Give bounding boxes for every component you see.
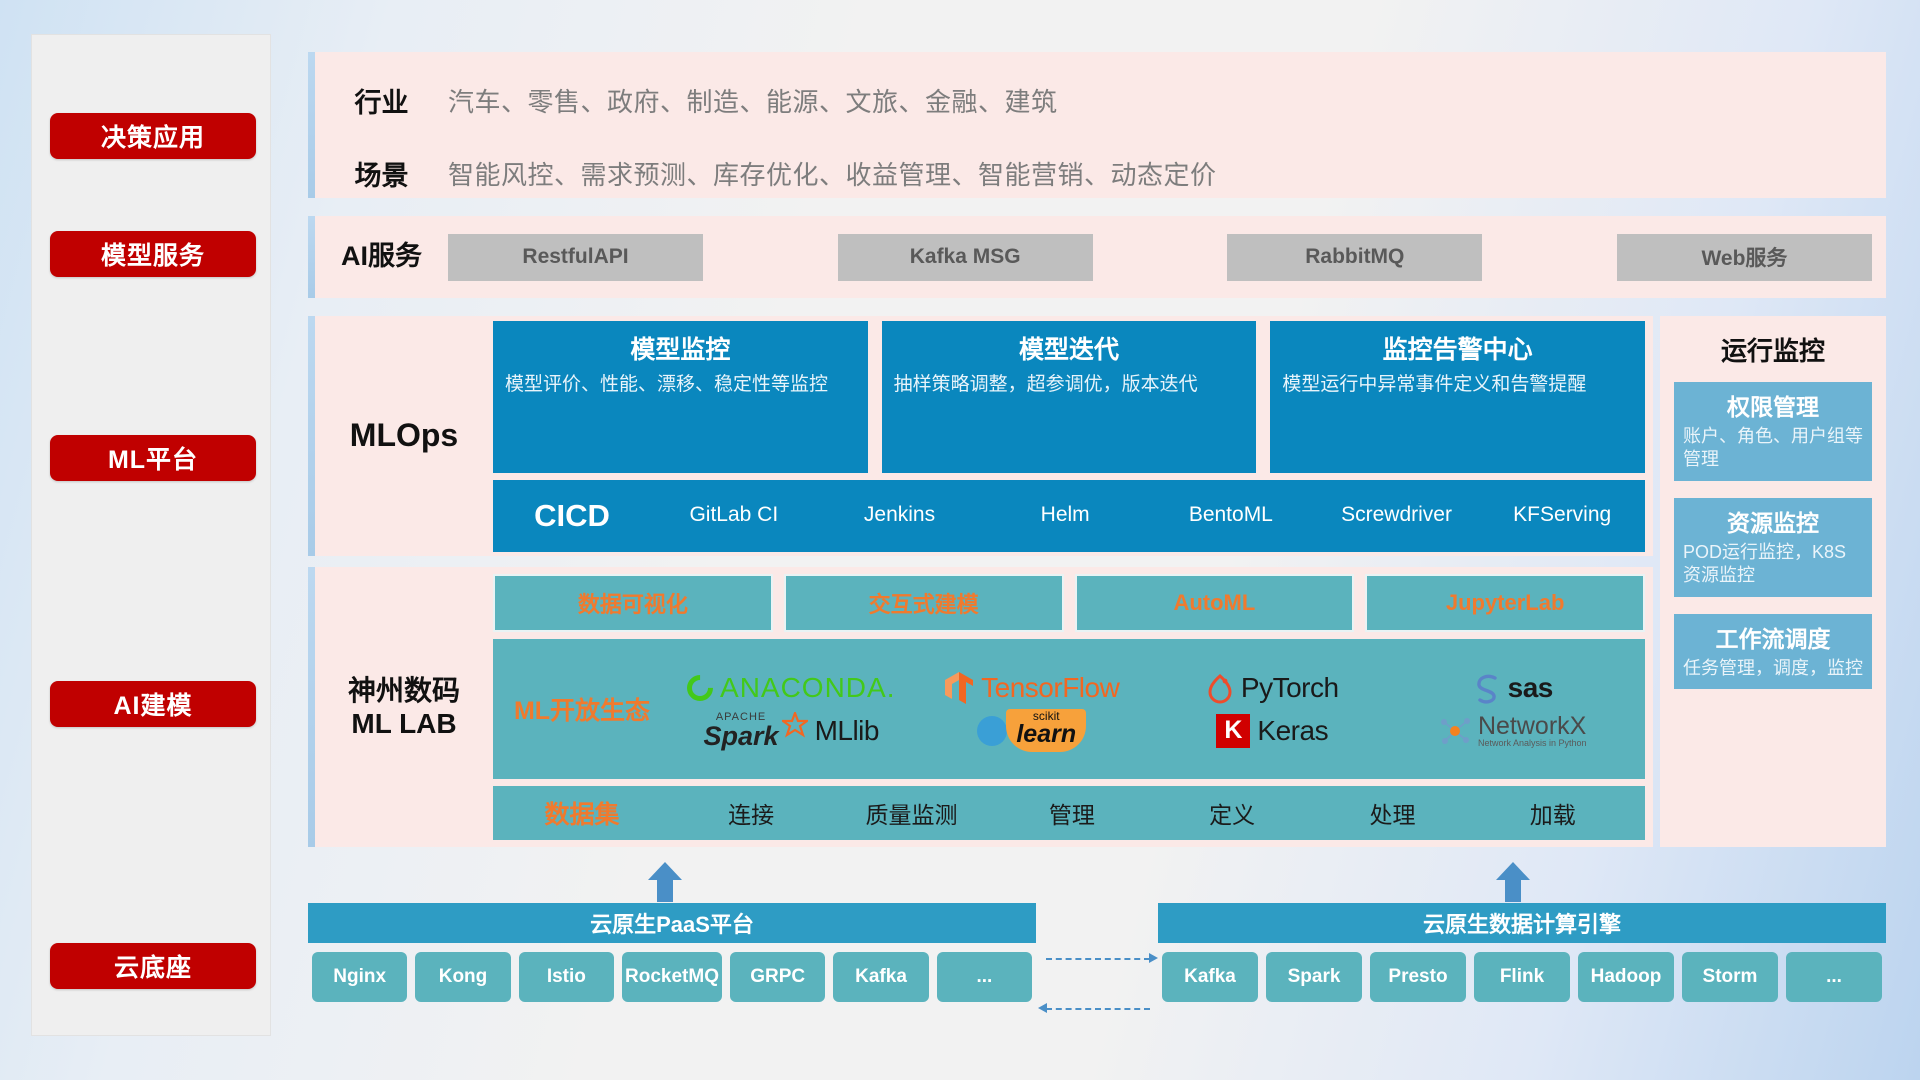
- logo-networkx: NetworkX Network Analysis in Python: [1439, 714, 1587, 748]
- runtime-monitoring-panel: 运行监控 权限管理 账户、角色、用户组等管理 资源监控 POD运行监控，K8S资…: [1660, 316, 1886, 847]
- logo-sas: sas: [1473, 672, 1553, 704]
- pytorch-icon: [1206, 672, 1234, 704]
- paas-chip-kafka[interactable]: Kafka: [833, 952, 928, 1002]
- scenario-label: 场景: [315, 154, 448, 193]
- card-title: 资源监控: [1683, 504, 1863, 538]
- industry-value: 汽车、零售、政府、制造、能源、文旅、金融、建筑: [448, 82, 1058, 119]
- cicd-bar: CICD GitLab CI Jenkins Helm BentoML Scre…: [493, 480, 1645, 552]
- logo-anaconda: ANACONDA.: [687, 672, 895, 704]
- scenario-row: 场景 智能风控、需求预测、库存优化、收益管理、智能营销、动态定价: [315, 137, 1886, 210]
- runtime-monitoring-title: 运行监控: [1660, 331, 1886, 368]
- layer-tag-cloud-foundation[interactable]: 云底座: [50, 943, 256, 989]
- networkx-icon: [1439, 715, 1471, 747]
- logo-spark-mllib: APACHE Spark MLlib: [704, 712, 879, 750]
- cicd-item-jenkins[interactable]: Jenkins: [817, 503, 983, 527]
- arrow-up-engine-icon: [1496, 862, 1530, 902]
- networkx-tagline: Network Analysis in Python: [1478, 739, 1587, 748]
- scikit-learn-blue-blob-icon: [977, 716, 1007, 746]
- card-title: 模型迭代: [894, 330, 1245, 366]
- networkx-wordmark: NetworkX: [1478, 714, 1587, 739]
- tensorflow-icon: [944, 671, 974, 705]
- card-desc: 模型评价、性能、漂移、稳定性等监控: [505, 372, 856, 397]
- ai-service-label: AI服务: [315, 241, 448, 273]
- engine-chip-flink[interactable]: Flink: [1474, 952, 1570, 1002]
- paas-chip-istio[interactable]: Istio: [519, 952, 614, 1002]
- cicd-item-screwdriver[interactable]: Screwdriver: [1314, 503, 1480, 527]
- monitor-card-permission[interactable]: 权限管理 账户、角色、用户组等管理: [1674, 382, 1872, 481]
- engine-chip-presto[interactable]: Presto: [1370, 952, 1466, 1002]
- anaconda-wordmark: ANACONDA.: [720, 672, 895, 704]
- cicd-item-helm[interactable]: Helm: [982, 503, 1148, 527]
- ml-lab-tool-automl[interactable]: AutoML: [1075, 574, 1355, 632]
- scenario-value: 智能风控、需求预测、库存优化、收益管理、智能营销、动态定价: [448, 155, 1217, 192]
- logo-tensorflow: TensorFlow: [944, 671, 1119, 705]
- engine-title: 云原生数据计算引擎: [1158, 903, 1886, 943]
- ml-lab-tool-list: 数据可视化 交互式建模 AutoML JupyterLab: [493, 574, 1645, 632]
- paas-chip-more[interactable]: ...: [937, 952, 1032, 1002]
- mlops-label: MLOps: [315, 417, 493, 455]
- mlops-card-model-iteration[interactable]: 模型迭代 抽样策略调整，超参调优，版本迭代: [882, 321, 1257, 473]
- ml-lab-label: 神州数码 ML LAB: [315, 674, 493, 740]
- ai-service-band: AI服务 RestfulAPI Kafka MSG RabbitMQ Web服务: [308, 216, 1886, 298]
- ml-lab-label-line2: ML LAB: [315, 707, 493, 740]
- logo-pytorch: PyTorch: [1206, 672, 1339, 704]
- mlops-card-list: 模型监控 模型评价、性能、漂移、稳定性等监控 模型迭代 抽样策略调整，超参调优，…: [493, 321, 1645, 473]
- industry-row: 行业 汽车、零售、政府、制造、能源、文旅、金融、建筑: [315, 64, 1886, 137]
- spark-wordmark: Spark: [704, 723, 779, 750]
- cicd-item-kfserving[interactable]: KFServing: [1479, 503, 1645, 527]
- paas-chip-grpc[interactable]: GRPC: [730, 952, 825, 1002]
- engine-chip-spark[interactable]: Spark: [1266, 952, 1362, 1002]
- spark-star-icon: [782, 712, 808, 738]
- pytorch-wordmark: PyTorch: [1241, 672, 1339, 704]
- layer-tag-ml-platform[interactable]: ML平台: [50, 435, 256, 481]
- layer-rail: 决策应用 模型服务 ML平台 AI建模 云底座: [31, 34, 271, 1036]
- ai-service-button-restfulapi[interactable]: RestfulAPI: [448, 234, 703, 281]
- ml-lab-tool-jupyterlab[interactable]: JupyterLab: [1365, 574, 1645, 632]
- dataset-row: 数据集 连接 质量监测 管理 定义 处理 加载: [493, 786, 1645, 840]
- engine-chip-hadoop[interactable]: Hadoop: [1578, 952, 1674, 1002]
- ml-ecosystem-label: ML开放生态: [493, 691, 671, 727]
- monitor-card-resource[interactable]: 资源监控 POD运行监控，K8S资源监控: [1674, 498, 1872, 597]
- layer-tag-decision-apps[interactable]: 决策应用: [50, 113, 256, 159]
- arrow-up-paas-icon: [648, 862, 682, 902]
- card-desc: 抽样策略调整，超参调优，版本迭代: [894, 372, 1245, 397]
- logo-keras: K Keras: [1216, 714, 1328, 748]
- card-desc: 模型运行中异常事件定义和告警提醒: [1282, 372, 1633, 397]
- card-title: 监控告警中心: [1282, 330, 1633, 366]
- logo-scikit-learn: scikit learn: [977, 709, 1086, 752]
- paas-title: 云原生PaaS平台: [308, 903, 1036, 943]
- dataset-item-quality-monitor[interactable]: 质量监测: [831, 796, 991, 830]
- ml-ecosystem-row: ML开放生态 ANACONDA. TensorFlow: [493, 639, 1645, 779]
- mlops-band: MLOps 模型监控 模型评价、性能、漂移、稳定性等监控 模型迭代 抽样策略调整…: [308, 316, 1653, 556]
- cicd-item-bentoml[interactable]: BentoML: [1148, 503, 1314, 527]
- decision-apps-band: 行业 汽车、零售、政府、制造、能源、文旅、金融、建筑 场景 智能风控、需求预测、…: [308, 52, 1886, 198]
- ai-service-button-web[interactable]: Web服务: [1617, 234, 1872, 281]
- sas-wordmark: sas: [1508, 672, 1553, 704]
- engine-chip-storm[interactable]: Storm: [1682, 952, 1778, 1002]
- dataset-item-manage[interactable]: 管理: [992, 796, 1152, 830]
- cicd-item-gitlab-ci[interactable]: GitLab CI: [651, 503, 817, 527]
- engine-chip-more[interactable]: ...: [1786, 952, 1882, 1002]
- layer-tag-model-service[interactable]: 模型服务: [50, 231, 256, 277]
- dataset-item-define[interactable]: 定义: [1152, 796, 1312, 830]
- cloud-native-data-engine-block: 云原生数据计算引擎 Kafka Spark Presto Flink Hadoo…: [1158, 903, 1886, 1006]
- dataset-item-load[interactable]: 加载: [1473, 796, 1633, 830]
- layer-tag-ai-modeling[interactable]: AI建模: [50, 681, 256, 727]
- paas-chip-rocketmq[interactable]: RocketMQ: [622, 952, 722, 1002]
- card-title: 工作流调度: [1683, 620, 1863, 654]
- mlops-card-alert-center[interactable]: 监控告警中心 模型运行中异常事件定义和告警提醒: [1270, 321, 1645, 473]
- card-desc: POD运行监控，K8S资源监控: [1683, 541, 1863, 588]
- card-title: 权限管理: [1683, 388, 1863, 422]
- scikit-learn-icon: scikit learn: [1006, 709, 1086, 752]
- ai-service-buttons: RestfulAPI Kafka MSG RabbitMQ Web服务: [448, 234, 1886, 281]
- card-title: 模型监控: [505, 330, 856, 366]
- keras-wordmark: Keras: [1257, 715, 1328, 747]
- paas-chip-nginx[interactable]: Nginx: [312, 952, 407, 1002]
- industry-label: 行业: [315, 81, 448, 120]
- ml-lab-label-line1: 神州数码: [315, 674, 493, 707]
- sas-icon: [1473, 672, 1501, 704]
- ai-service-button-rabbitmq[interactable]: RabbitMQ: [1227, 234, 1482, 281]
- mlops-card-model-monitoring[interactable]: 模型监控 模型评价、性能、漂移、稳定性等监控: [493, 321, 868, 473]
- anaconda-icon: [682, 669, 719, 706]
- monitor-card-workflow[interactable]: 工作流调度 任务管理，调度，监控: [1674, 614, 1872, 689]
- dataset-item-connect[interactable]: 连接: [671, 796, 831, 830]
- engine-chip-kafka[interactable]: Kafka: [1162, 952, 1258, 1002]
- ml-lab-tool-interactive-modeling[interactable]: 交互式建模: [784, 574, 1064, 632]
- keras-icon: K: [1216, 714, 1250, 748]
- ml-lab-tool-data-visualization[interactable]: 数据可视化: [493, 574, 773, 632]
- learn-wordmark: learn: [1016, 722, 1076, 747]
- tensorflow-wordmark: TensorFlow: [981, 672, 1119, 704]
- dataset-label: 数据集: [493, 795, 671, 831]
- cicd-label: CICD: [493, 498, 651, 534]
- card-desc: 任务管理，调度，监控: [1683, 657, 1863, 680]
- dataset-item-process[interactable]: 处理: [1312, 796, 1472, 830]
- ai-service-button-kafka-msg[interactable]: Kafka MSG: [838, 234, 1093, 281]
- ml-lab-band: 神州数码 ML LAB 数据可视化 交互式建模 AutoML JupyterLa…: [308, 567, 1653, 847]
- mllib-wordmark: MLlib: [815, 715, 879, 747]
- card-desc: 账户、角色、用户组等管理: [1683, 425, 1863, 472]
- cloud-native-paas-block: 云原生PaaS平台 Nginx Kong Istio RocketMQ GRPC…: [308, 903, 1036, 1006]
- paas-chip-kong[interactable]: Kong: [415, 952, 510, 1002]
